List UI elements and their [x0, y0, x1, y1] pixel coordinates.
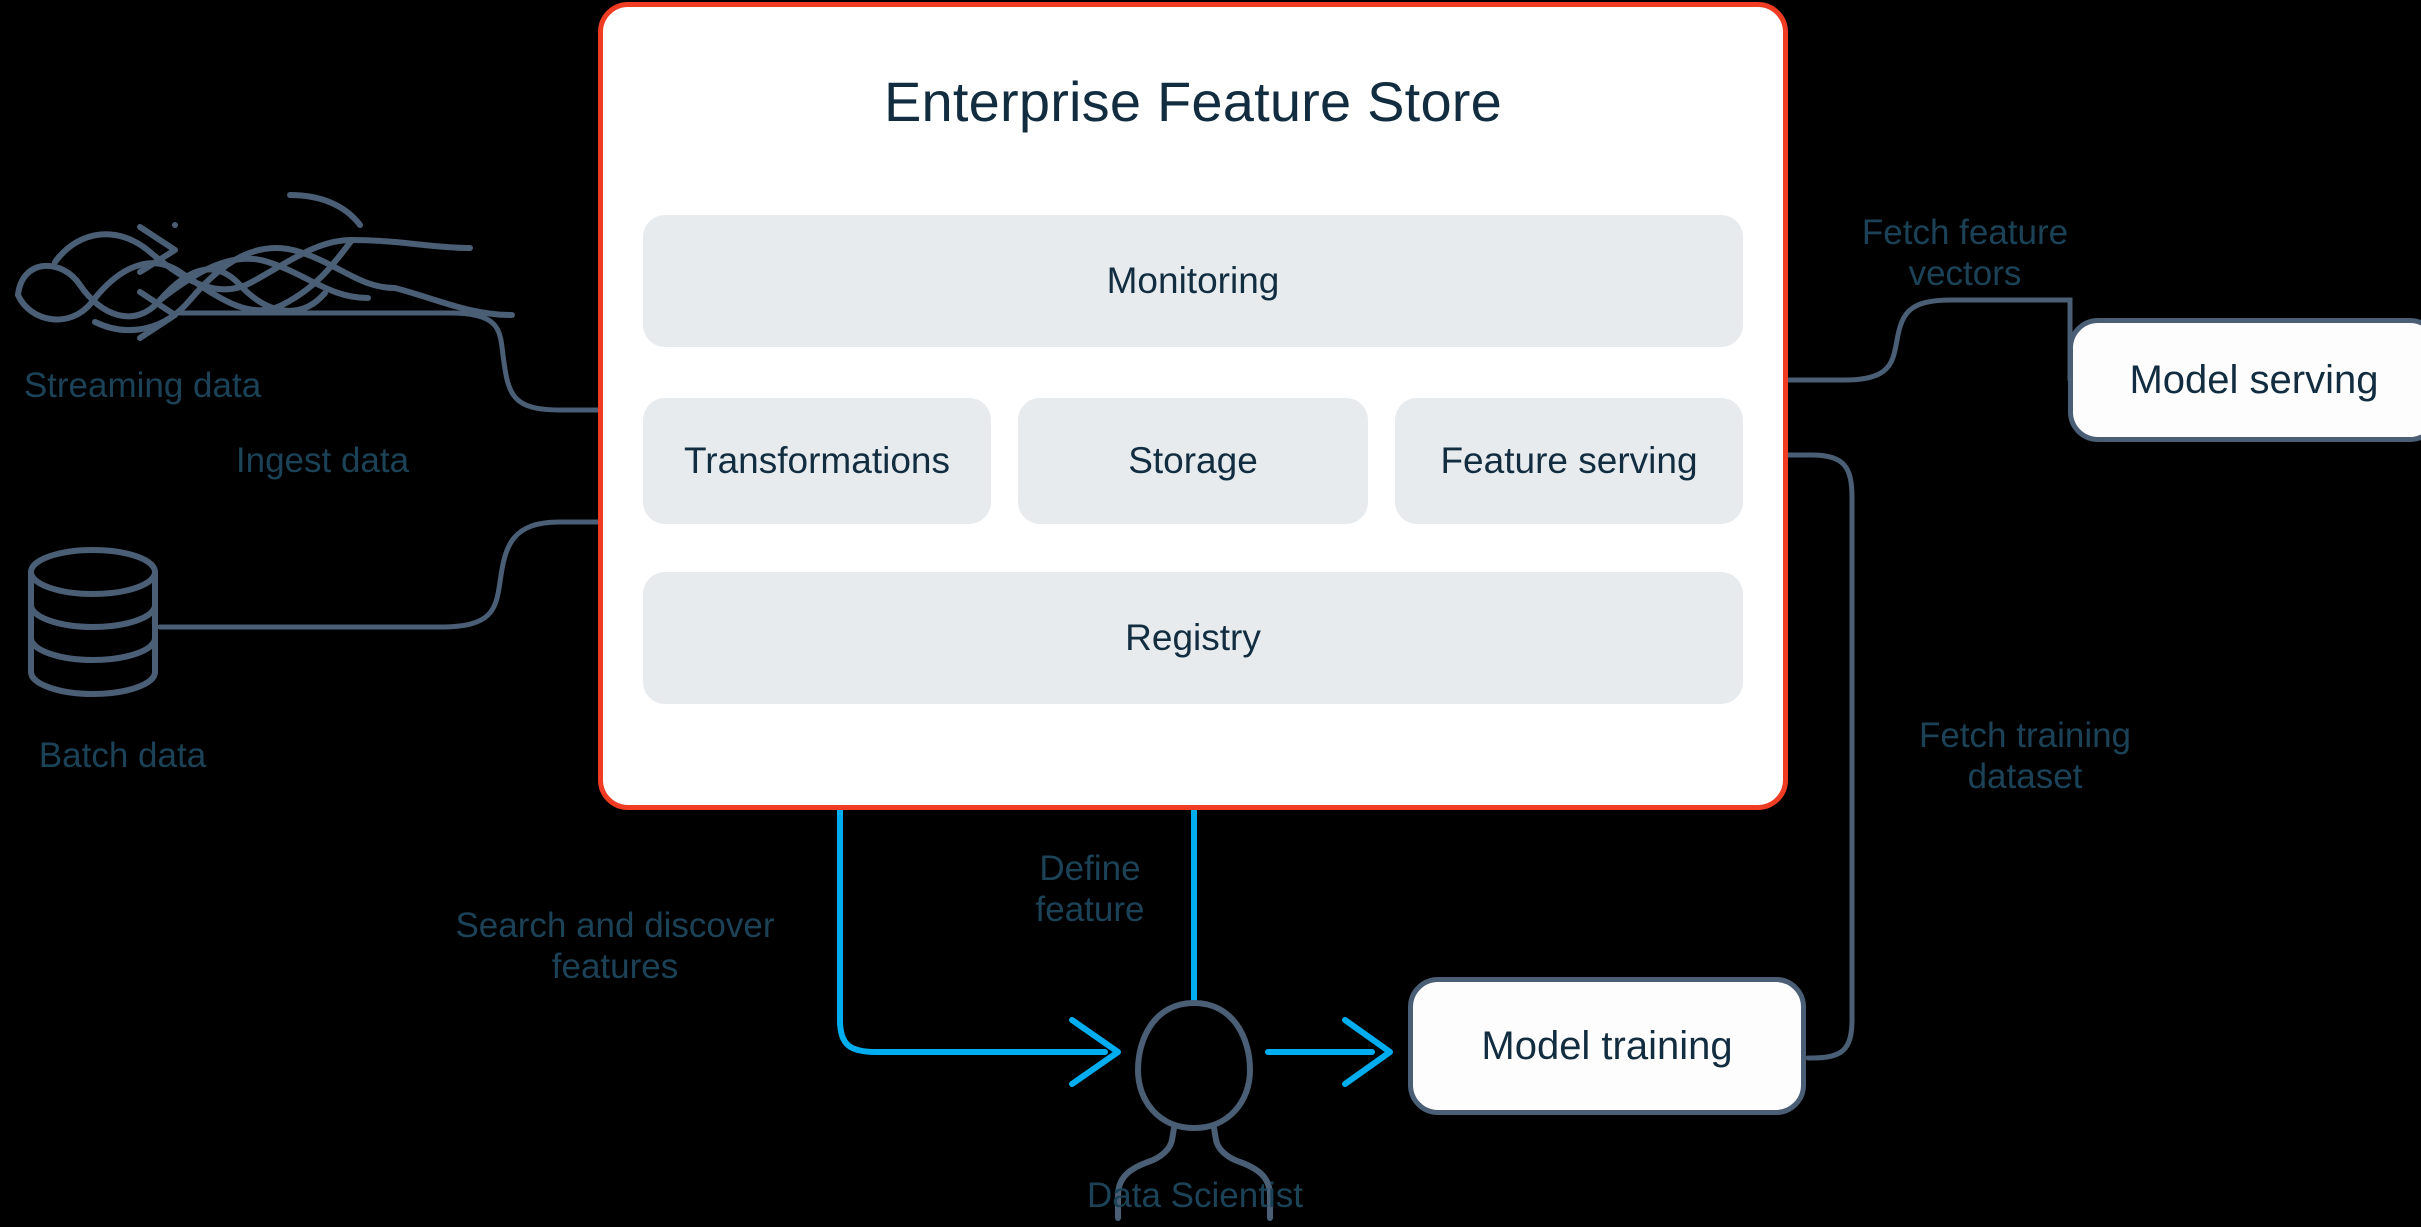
model-training-box[interactable]: Model training [1408, 977, 1806, 1115]
ingest-data-label: Ingest data [180, 440, 465, 481]
tile-feature-serving[interactable]: Feature serving [1395, 398, 1743, 524]
arrow-scientist-to-training-head [1345, 1020, 1390, 1084]
arrow-search-discover-head [1072, 1020, 1118, 1084]
fetch-feature-vectors-label: Fetch feature vectors [1810, 212, 2120, 295]
tile-registry[interactable]: Registry [643, 572, 1743, 704]
streaming-data-label: Streaming data [0, 365, 285, 406]
wire-batch-to-store [160, 522, 600, 627]
streaming-arrowheads-icon [140, 227, 175, 338]
model-training-label: Model training [1481, 1024, 1732, 1069]
tile-registry-label: Registry [1125, 616, 1261, 660]
data-scientist-label: Data Scientist [1040, 1175, 1350, 1216]
tile-storage-label: Storage [1128, 439, 1258, 483]
tile-feature-serving-label: Feature serving [1440, 439, 1697, 483]
search-and-discover-features-label: Search and discover features [420, 905, 810, 988]
define-feature-label: Define feature [990, 848, 1190, 931]
database-cylinder-icon [31, 550, 155, 694]
wire-store-to-model-serving [1788, 300, 2070, 380]
model-serving-box[interactable]: Model serving [2068, 318, 2421, 442]
tile-monitoring[interactable]: Monitoring [643, 215, 1743, 347]
tile-transformations-label: Transformations [684, 439, 950, 483]
page-title: Enterprise Feature Store [603, 69, 1783, 134]
tile-monitoring-label: Monitoring [1107, 259, 1280, 303]
tile-transformations[interactable]: Transformations [643, 398, 991, 524]
fetch-training-dataset-label: Fetch training dataset [1870, 715, 2180, 798]
wire-store-to-model-training [1788, 455, 1852, 1058]
streaming-waves-icon [18, 195, 512, 330]
tile-storage[interactable]: Storage [1018, 398, 1368, 524]
batch-data-label: Batch data [0, 735, 245, 776]
diagram-canvas: Enterprise Feature Store Monitoring Tran… [0, 0, 2421, 1227]
model-serving-label: Model serving [2129, 358, 2378, 403]
